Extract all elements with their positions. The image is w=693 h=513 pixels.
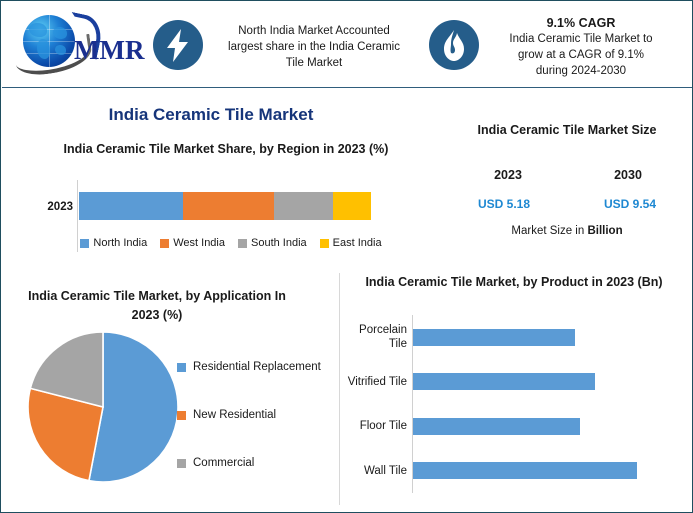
fact-1-line-2: largest share in the India Ceramic: [209, 39, 419, 55]
page-title: India Ceramic Tile Market: [1, 105, 421, 125]
application-share-chart: India Ceramic Tile Market, by Applicatio…: [9, 287, 349, 509]
header-fact-2-text: 9.1% CAGR India Ceramic Tile Market to g…: [483, 15, 679, 79]
region-stacked-bar: [79, 192, 371, 220]
product-chart-plot: Porcelain TileVitrified TileFloor TileWa…: [339, 315, 689, 493]
market-size-panel: India Ceramic Tile Market Size 2023 2030…: [445, 121, 689, 261]
product-category-label: Porcelain Tile: [339, 323, 412, 351]
fact-2-line-1: India Ceramic Tile Market to: [483, 31, 679, 47]
market-size-value-forecast: USD 9.54: [585, 197, 675, 211]
region-segment-south-india[interactable]: [274, 192, 333, 220]
legend-item-north-india[interactable]: North India: [80, 237, 147, 249]
region-segment-east-india[interactable]: [333, 192, 371, 220]
brand-name: MMR: [74, 37, 144, 64]
legend-label: Commercial: [193, 457, 254, 469]
market-size-year-base: 2023: [463, 168, 553, 182]
legend-label: New Residential: [193, 409, 276, 421]
legend-item-west-india[interactable]: West India: [160, 237, 225, 249]
market-size-year-forecast: 2030: [583, 168, 673, 182]
fact-1-line-3: Tile Market: [209, 55, 419, 71]
header-divider: [2, 87, 693, 88]
product-bar-row: Vitrified Tile: [339, 360, 689, 405]
legend-item-east-india[interactable]: East India: [320, 237, 382, 249]
pie-chart-graphic: [27, 331, 179, 483]
product-bar[interactable]: [413, 373, 595, 390]
pie-legend-item-commercial[interactable]: Commercial: [177, 439, 349, 487]
pie-legend-item-residential-replacement[interactable]: Residential Replacement: [177, 343, 349, 391]
header-fact-1-text: North India Market Accounted largest sha…: [209, 23, 419, 71]
product-bar[interactable]: [413, 418, 580, 435]
product-category-label: Wall Tile: [339, 464, 412, 478]
legend-swatch-icon: [177, 363, 186, 372]
fact-2-line-3: during 2024-2030: [483, 63, 679, 79]
fact-2-line-2: grow at a CAGR of 9.1%: [483, 47, 679, 63]
product-bar-row: Floor Tile: [339, 404, 689, 449]
product-bar[interactable]: [413, 462, 637, 479]
legend-swatch-icon: [238, 239, 247, 248]
product-bar-row: Wall Tile: [339, 449, 689, 494]
pie-chart-title: India Ceramic Tile Market, by Applicatio…: [19, 287, 295, 325]
legend-swatch-icon: [177, 411, 186, 420]
region-category-label: 2023: [31, 201, 73, 213]
legend-swatch-icon: [160, 239, 169, 248]
product-bar-row: Porcelain Tile: [339, 315, 689, 360]
region-chart-title: India Ceramic Tile Market Share, by Regi…: [41, 141, 411, 158]
brand-logo[interactable]: MMR: [13, 9, 145, 75]
region-share-chart: India Ceramic Tile Market Share, by Regi…: [31, 141, 421, 266]
product-chart-title: India Ceramic Tile Market, by Product in…: [339, 273, 689, 292]
legend-label: South India: [251, 237, 307, 249]
pie-chart-legend: Residential Replacement New Residential …: [177, 343, 349, 487]
market-size-title: India Ceramic Tile Market Size: [445, 121, 689, 139]
lightning-bolt-icon: [153, 20, 203, 70]
region-segment-north-india[interactable]: [79, 192, 183, 220]
header: MMR North India Market Accounted largest…: [1, 1, 693, 87]
product-category-label: Vitrified Tile: [339, 375, 412, 389]
legend-item-south-india[interactable]: South India: [238, 237, 307, 249]
product-bar[interactable]: [413, 329, 575, 346]
flame-icon: [429, 20, 479, 70]
legend-swatch-icon: [177, 459, 186, 468]
market-size-unit: Market Size in Billion: [445, 225, 689, 237]
product-category-label: Floor Tile: [339, 419, 412, 433]
cagr-highlight: 9.1% CAGR: [483, 15, 679, 31]
legend-swatch-icon: [80, 239, 89, 248]
fact-1-line-1: North India Market Accounted: [209, 23, 419, 39]
legend-label: Residential Replacement: [193, 361, 321, 373]
product-segment-chart: India Ceramic Tile Market, by Product in…: [339, 273, 689, 509]
infographic-page: MMR North India Market Accounted largest…: [0, 0, 693, 513]
unit-prefix: Market Size in: [511, 225, 587, 237]
legend-label: West India: [173, 237, 225, 249]
legend-label: North India: [93, 237, 147, 249]
region-segment-west-india[interactable]: [183, 192, 274, 220]
unit-bold: Billion: [587, 225, 622, 237]
pie-legend-item-new-residential[interactable]: New Residential: [177, 391, 349, 439]
market-size-value-base: USD 5.18: [459, 197, 549, 211]
legend-swatch-icon: [320, 239, 329, 248]
legend-label: East India: [333, 237, 382, 249]
region-chart-legend: North India West India South India East …: [61, 237, 401, 249]
